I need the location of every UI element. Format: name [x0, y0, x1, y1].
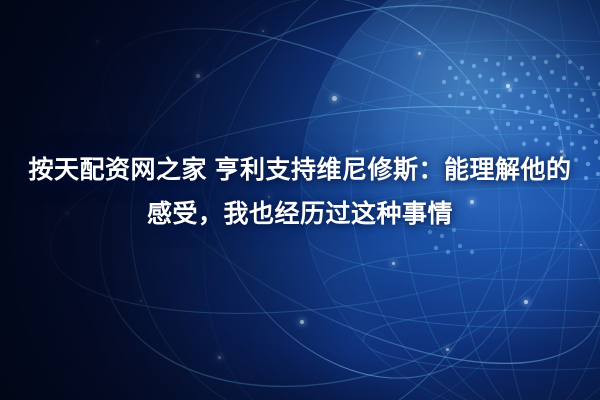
headline-line-2: 感受，我也经历过这种事情 [14, 192, 586, 236]
headline: 按天配资网之家 亨利支持维尼修斯：能理解他的 感受，我也经历过这种事情 [0, 148, 600, 236]
article-cover-banner: 按天配资网之家 亨利支持维尼修斯：能理解他的 感受，我也经历过这种事情 [0, 0, 600, 400]
headline-line-1: 按天配资网之家 亨利支持维尼修斯：能理解他的 [14, 148, 586, 192]
